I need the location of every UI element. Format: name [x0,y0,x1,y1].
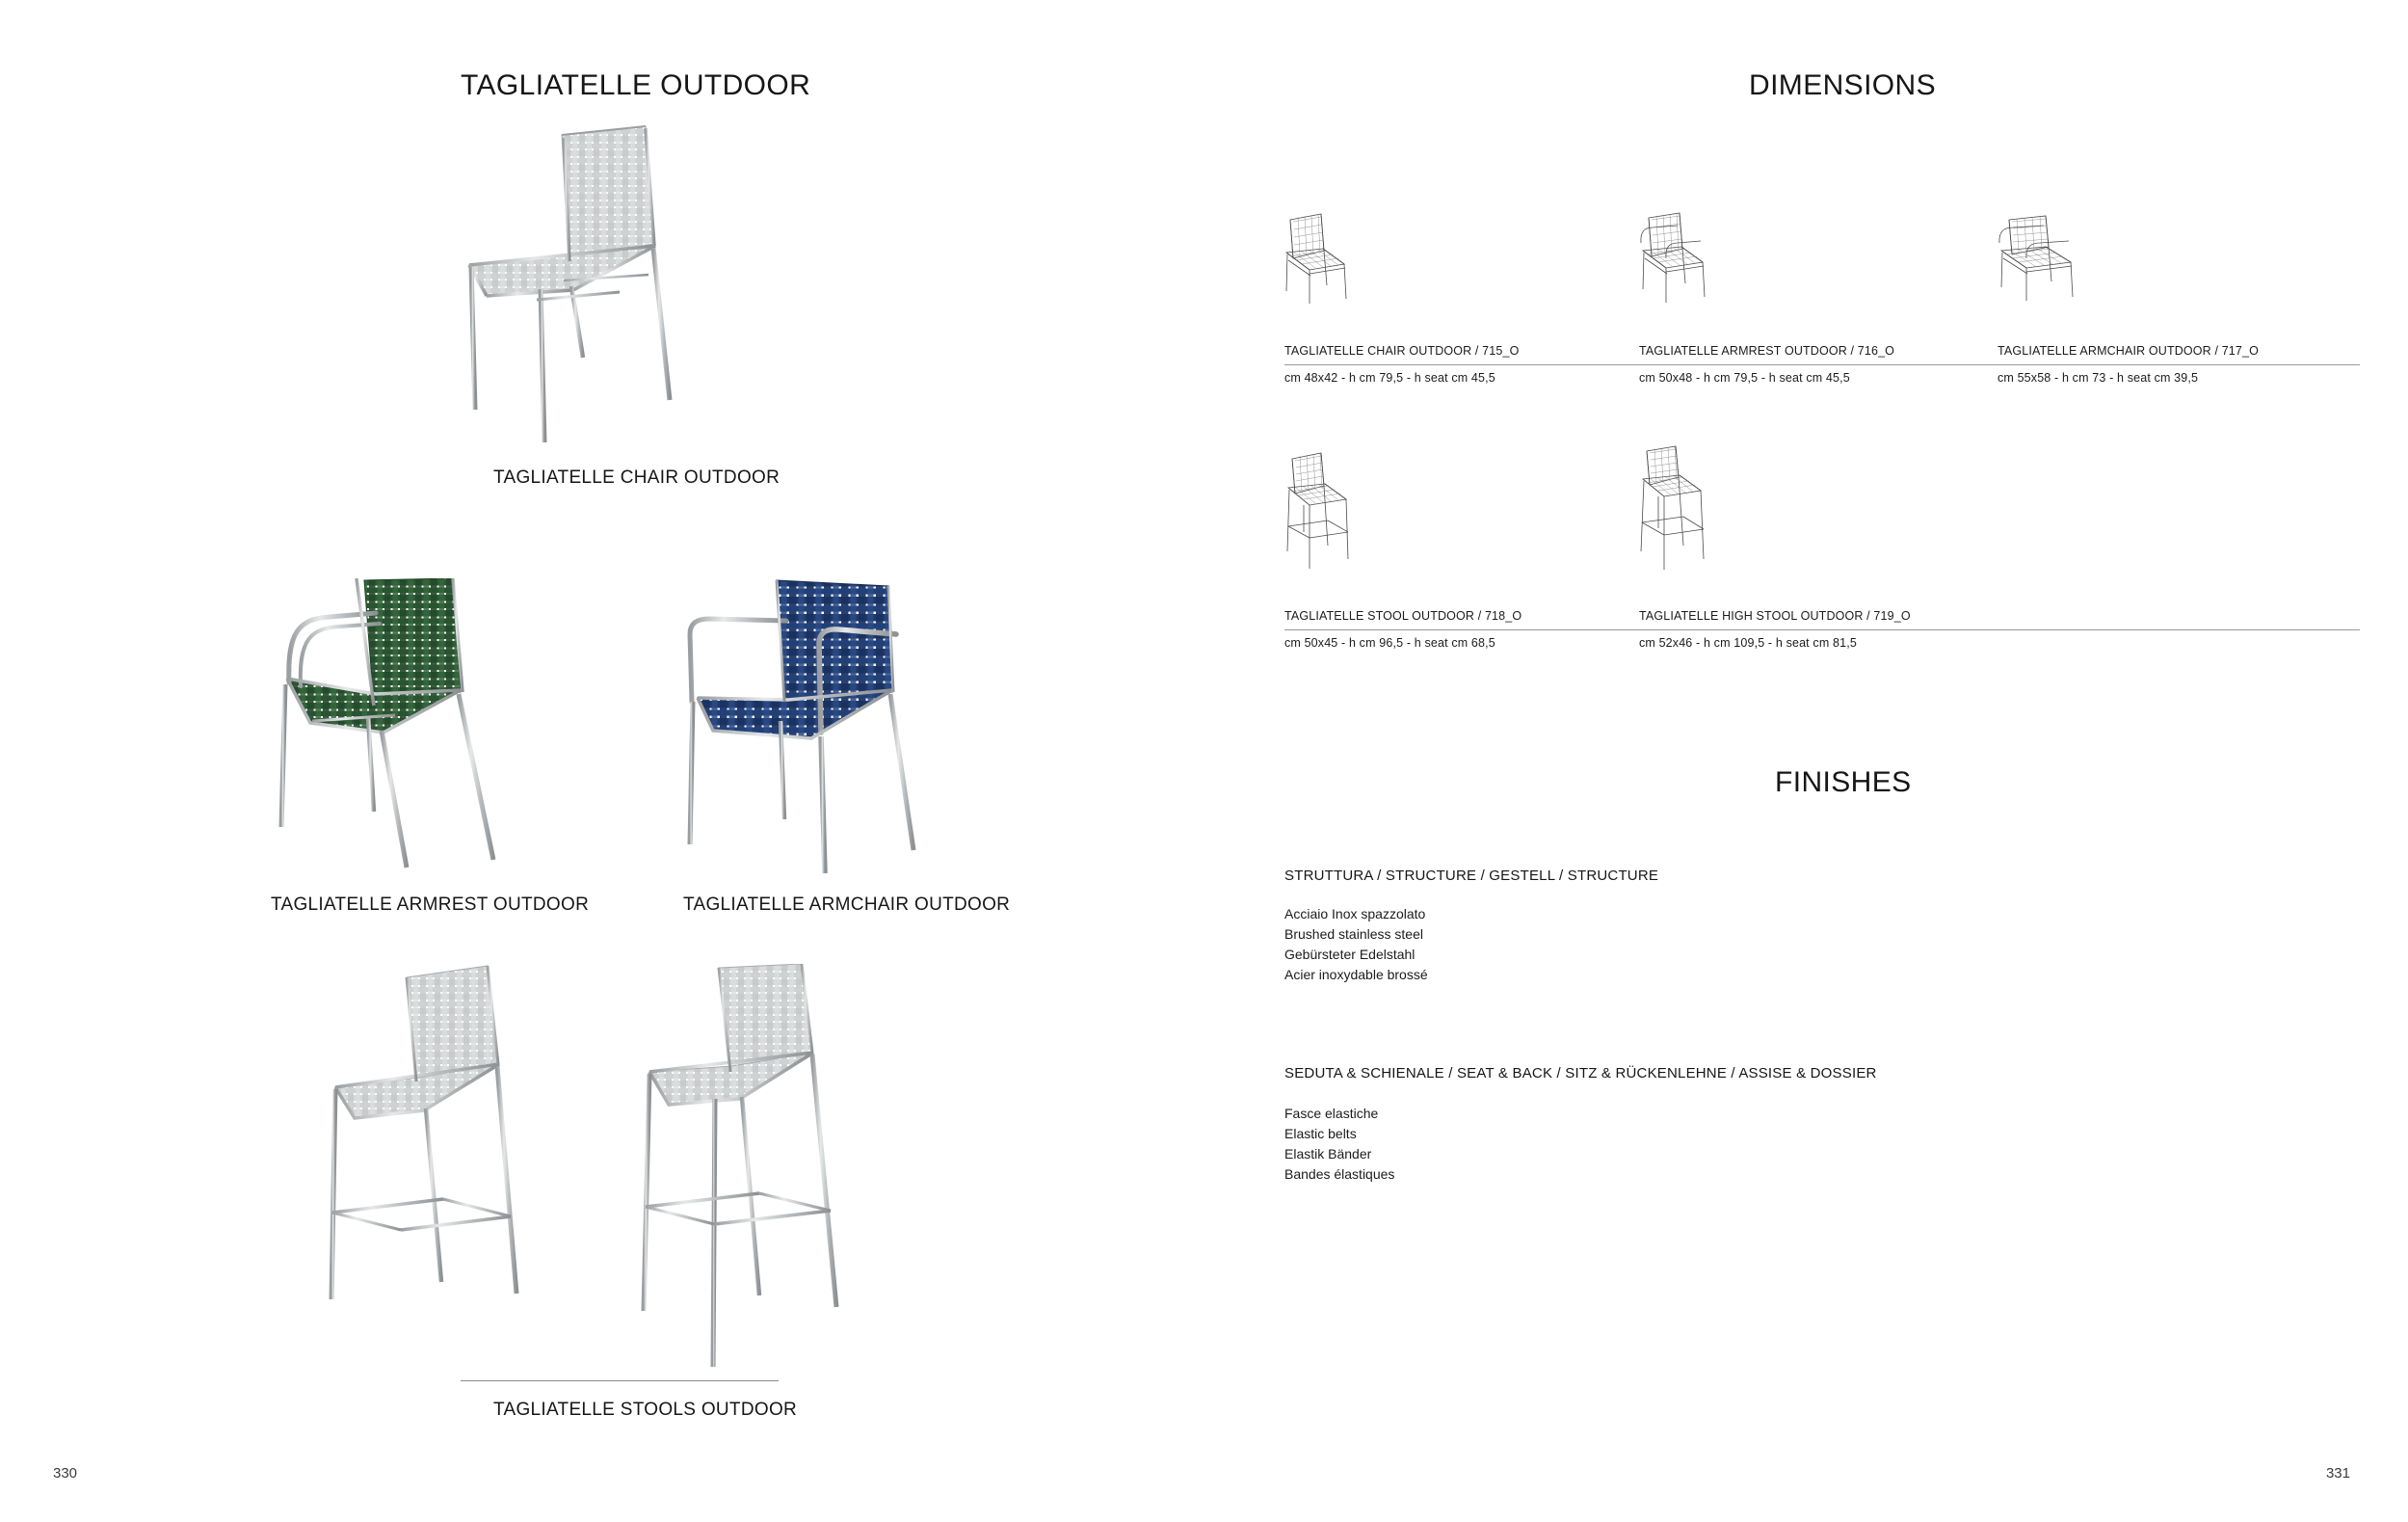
seatback-line-fr: Bandes élastiques [1284,1164,1394,1185]
catalog-spread: TAGLIATELLE OUTDOOR [0,0,2408,1522]
product-photo-chair [448,120,805,448]
page-number-left: 330 [53,1465,77,1482]
dimension-name-2: TAGLIATELLE ARMCHAIR OUTDOOR / 717_O [1998,344,2259,358]
caption-chair: TAGLIATELLE CHAIR OUTDOOR [493,467,780,489]
dimension-name-3: TAGLIATELLE STOOL OUTDOOR / 718_O [1284,609,1522,623]
structure-line-it: Acciaio Inox spazzolato [1284,904,1428,924]
product-photo-armrest [260,578,578,877]
structure-line-de: Gebürsteter Edelstahl [1284,945,1428,965]
dimension-spec-0: cm 48x42 - h cm 79,5 - h seat cm 45,5 [1284,371,1495,385]
seatback-line-it: Fasce elastiche [1284,1104,1394,1124]
seatback-line-de: Elastik Bänder [1284,1144,1394,1164]
structure-heading: STRUTTURA / STRUCTURE / GESTELL / STRUCT… [1284,868,1658,884]
page-number-right: 331 [2326,1465,2350,1482]
dimension-rule-row2 [1284,629,2360,630]
caption-stools: TAGLIATELLE STOOLS OUTDOOR [493,1400,797,1421]
finishes-title: FINISHES [1775,766,1912,799]
left-page: TAGLIATELLE OUTDOOR [0,0,1204,1522]
structure-line-fr: Acier inoxydable brossé [1284,965,1428,985]
dimension-name-0: TAGLIATELLE CHAIR OUTDOOR / 715_O [1284,344,1519,358]
structure-description: Acciaio Inox spazzolato Brushed stainles… [1284,904,1428,985]
structure-line-en: Brushed stainless steel [1284,924,1428,945]
caption-armrest: TAGLIATELLE ARMREST OUTDOOR [271,895,589,916]
dimension-name-4: TAGLIATELLE HIGH STOOL OUTDOOR / 719_O [1639,609,1911,623]
dimension-drawing-stool [1284,451,1400,573]
dimension-rule-row1 [1284,364,2360,365]
product-photo-stool-high [636,964,915,1369]
page-title: TAGLIATELLE OUTDOOR [461,69,810,102]
dimensions-title: DIMENSIONS [1749,69,1936,102]
dimension-drawing-armchair [1998,214,2121,307]
product-photo-stool-low [318,964,597,1369]
dimension-spec-2: cm 55x58 - h cm 73 - h seat cm 39,5 [1998,371,2198,385]
seatback-heading: SEDUTA & SCHIENALE / SEAT & BACK / SITZ … [1284,1065,1877,1081]
dimension-spec-4: cm 52x46 - h cm 109,5 - h seat cm 81,5 [1639,636,1857,650]
right-page: DIMENSIONS [1204,0,2408,1522]
seatback-description: Fasce elastiche Elastic belts Elastik Bä… [1284,1104,1394,1185]
dimension-spec-1: cm 50x48 - h cm 79,5 - h seat cm 45,5 [1639,371,1850,385]
dimension-drawing-highstool [1639,445,1755,573]
seatback-line-en: Elastic belts [1284,1124,1394,1144]
product-photo-armchair [684,578,1002,877]
dimension-spec-3: cm 50x45 - h cm 96,5 - h seat cm 68,5 [1284,636,1495,650]
dimension-drawing-chair [1284,210,1400,307]
dimension-name-1: TAGLIATELLE ARMREST OUTDOOR / 716_O [1639,344,1894,358]
stools-caption-rule [461,1380,779,1381]
dimension-drawing-armrest [1639,210,1755,307]
caption-armchair: TAGLIATELLE ARMCHAIR OUTDOOR [683,895,1010,916]
